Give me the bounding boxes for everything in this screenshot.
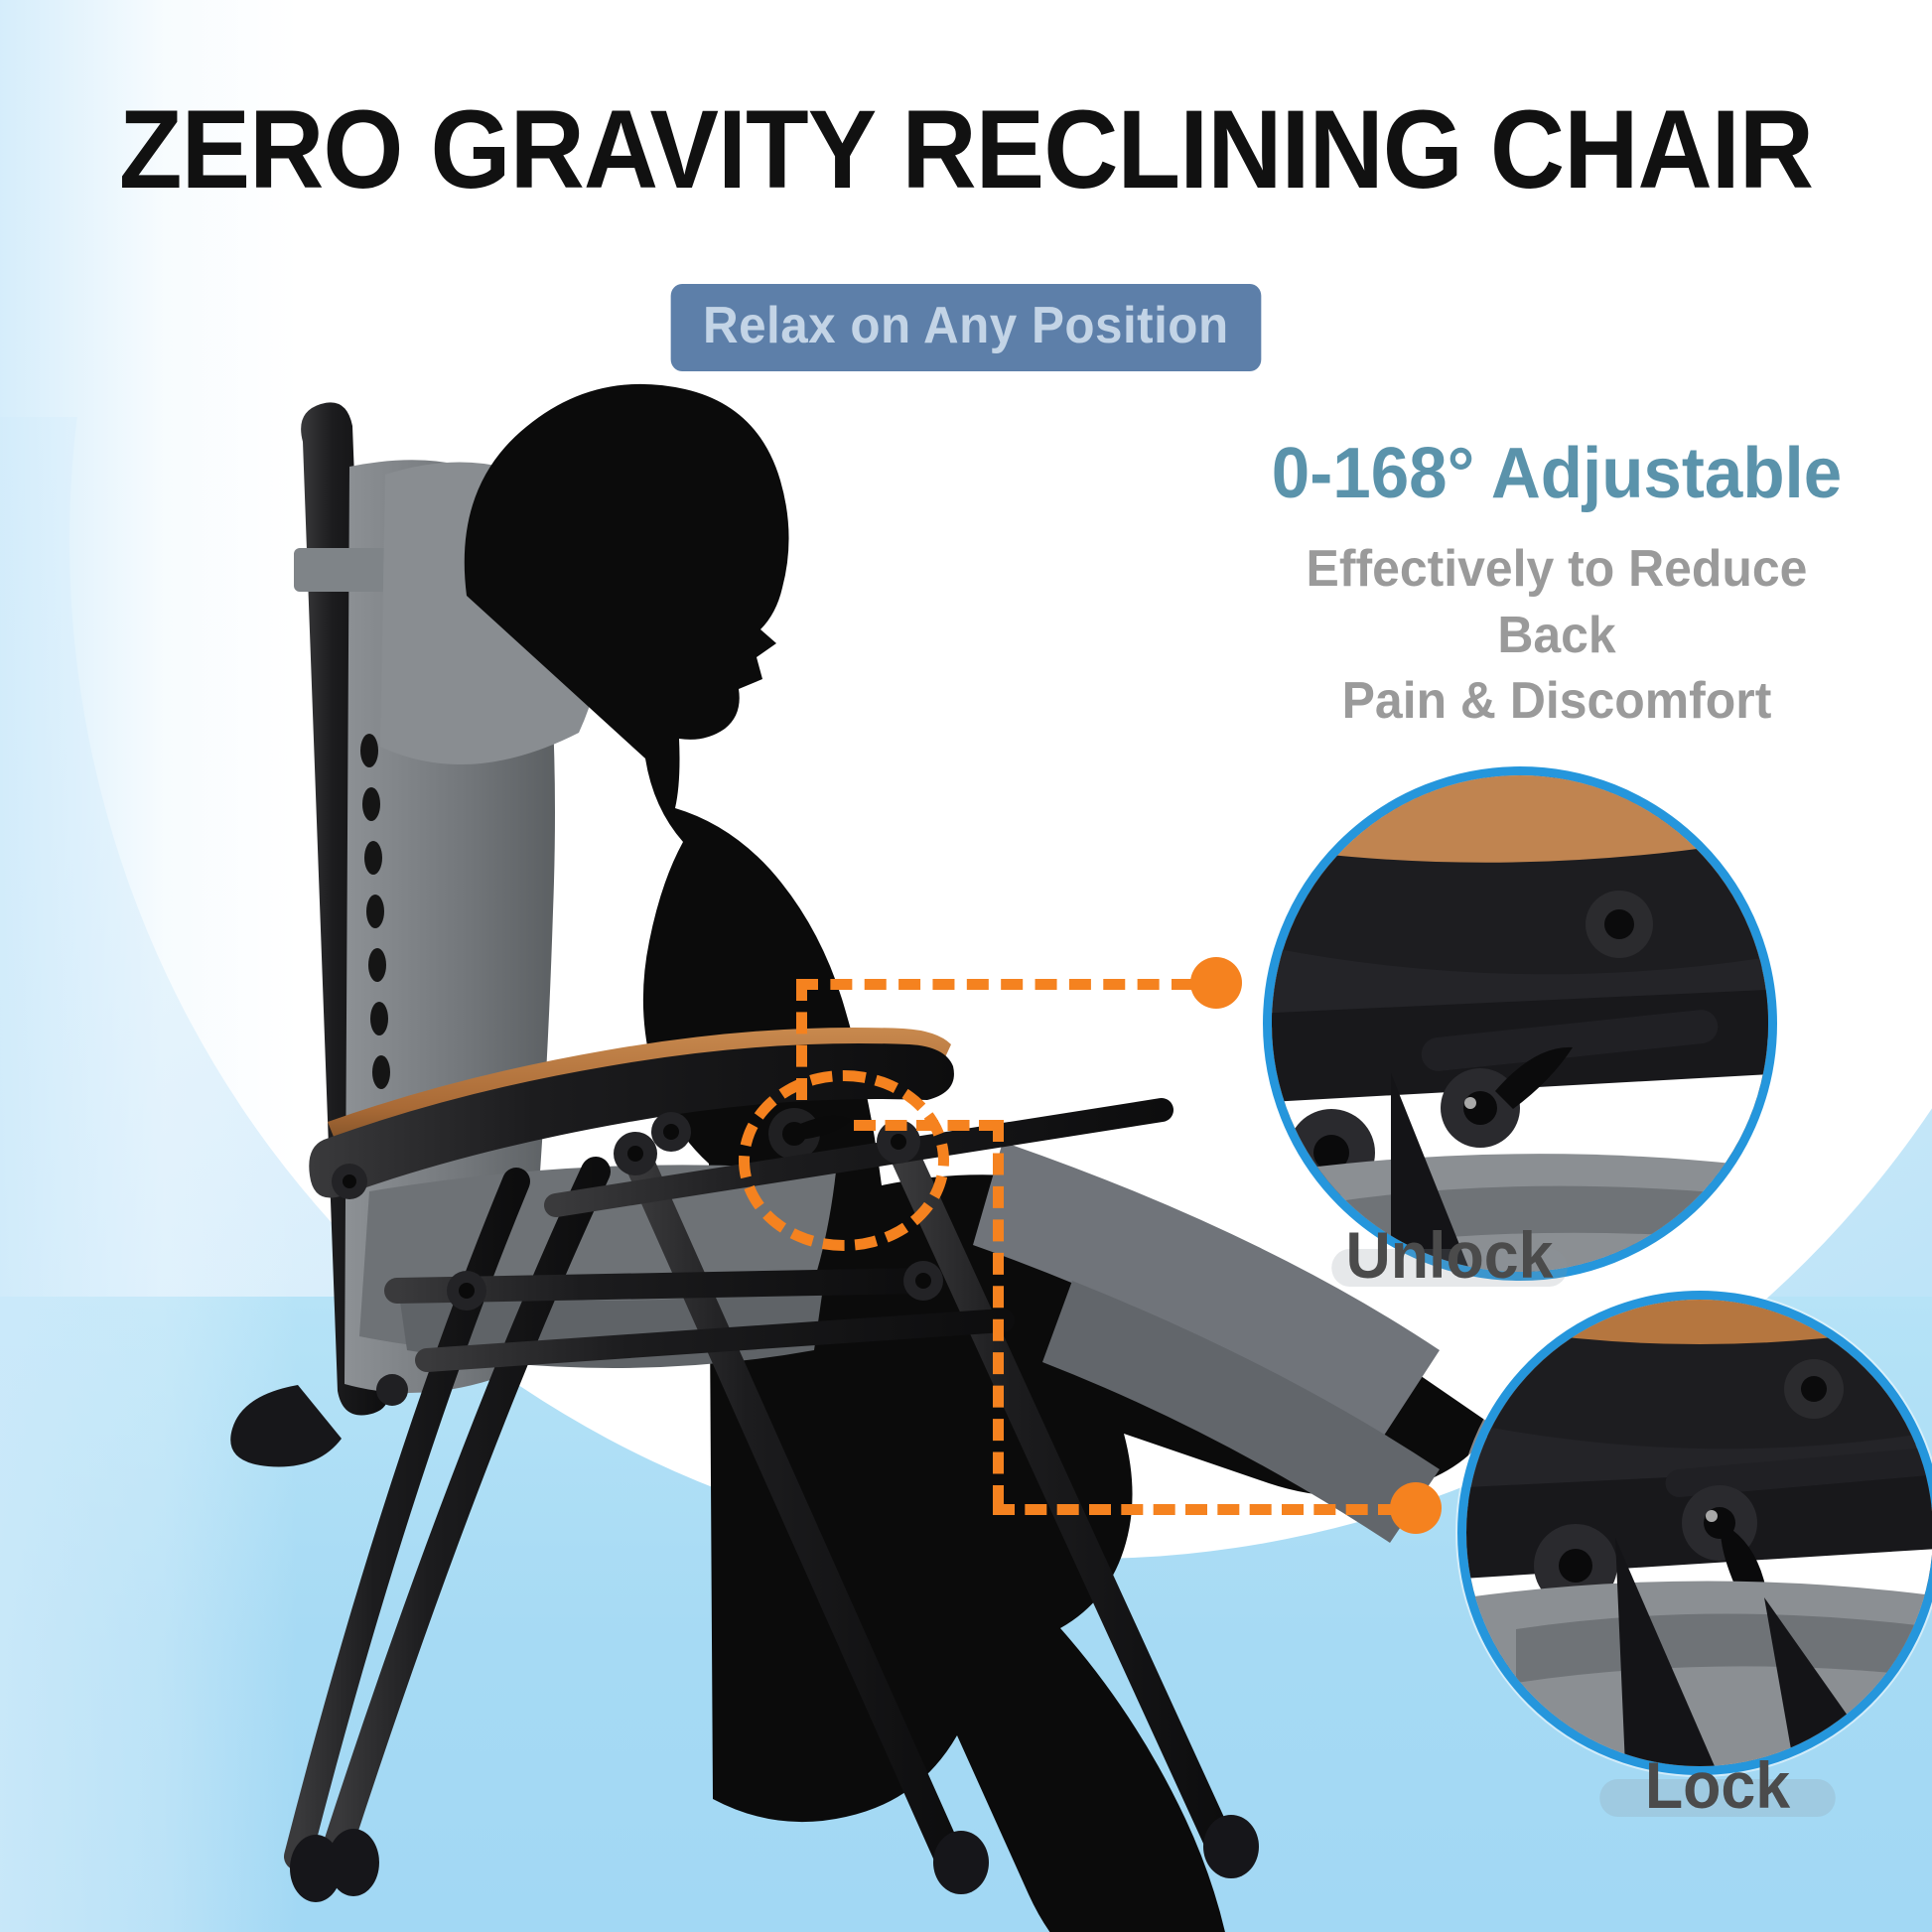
infographic-canvas: ZERO GRAVITY RECLINING CHAIR Relax on An… <box>0 0 1932 1932</box>
callout-label-lock: Lock <box>1548 1747 1887 1823</box>
connector-line-lock-horizontal-bottom <box>993 1504 1400 1515</box>
connector-line-lock-horizontal-top <box>854 1120 1001 1131</box>
connector-dot-lock <box>1390 1482 1442 1534</box>
chair-backrest-frame <box>294 402 605 1415</box>
chair-foot-glide <box>230 1385 1259 1902</box>
chair-frame-legs <box>298 1110 1221 1866</box>
connector-line-unlock-vertical <box>796 979 807 1100</box>
callout-circle-unlock <box>1263 766 1777 1281</box>
connector-line-lock-vertical <box>993 1120 1004 1507</box>
connector-dot-unlock <box>1190 957 1242 1009</box>
callout-circle-lock <box>1457 1291 1932 1775</box>
callout-unlock-image <box>1272 775 1768 1272</box>
highlight-ellipse-lock-lever <box>739 1070 949 1251</box>
callout-label-lock-text: Lock <box>1645 1748 1790 1822</box>
callout-label-unlock: Unlock <box>1280 1217 1619 1293</box>
callout-label-unlock-text: Unlock <box>1345 1218 1553 1292</box>
connector-line-unlock-horizontal <box>796 979 1193 990</box>
callout-lock-image <box>1466 1300 1932 1766</box>
